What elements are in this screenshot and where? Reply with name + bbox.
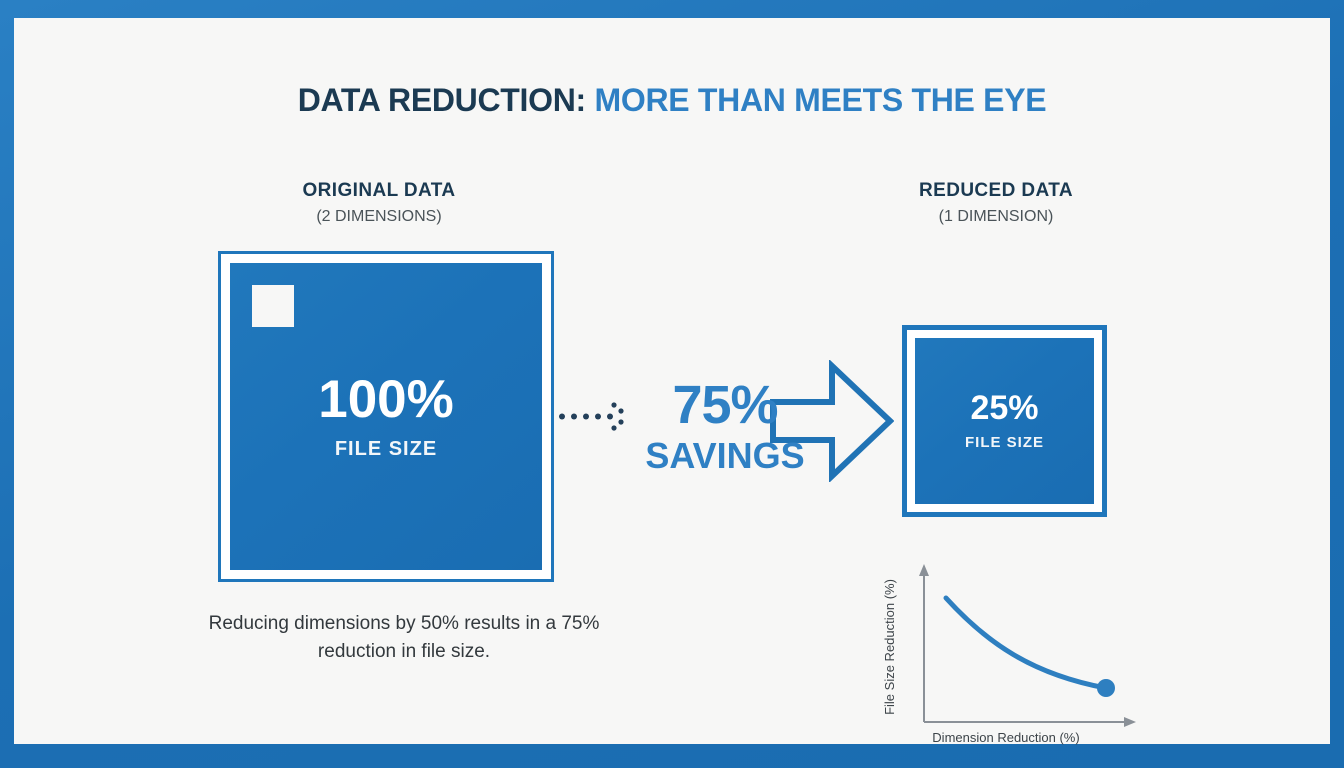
reduced-data-heading: REDUCED DATA: [846, 180, 1146, 202]
caption-text: Reducing dimensions by 50% results in a …: [174, 610, 634, 665]
chart-y-axis-label: File Size Reduction (%): [882, 579, 897, 715]
original-file-size-label: FILE SIZE: [335, 438, 437, 461]
reduced-data-heading-group: REDUCED DATA (1 DIMENSION): [846, 180, 1146, 226]
savings-label: SAVINGS: [610, 438, 840, 474]
reduced-file-size-label: FILE SIZE: [965, 434, 1044, 451]
chart-y-axis-arrowhead: [919, 564, 929, 576]
chart-endpoint-marker: [1097, 679, 1115, 697]
reduced-file-size-percent: 25%: [970, 391, 1038, 425]
reduced-data-square-fill: 25% FILE SIZE: [915, 338, 1094, 504]
original-data-square: 100% FILE SIZE: [218, 251, 554, 582]
dimension-notch-square: [252, 285, 294, 327]
page-title: DATA REDUCTION: MORE THAN MEETS THE EYE: [14, 82, 1330, 119]
original-data-subheading: (2 DIMENSIONS): [229, 208, 529, 226]
chart-x-axis-label: Dimension Reduction (%): [932, 730, 1079, 745]
chart-x-axis-arrowhead: [1124, 717, 1136, 727]
savings-percent: 75%: [610, 378, 840, 432]
savings-callout: 75% SAVINGS: [610, 378, 840, 474]
title-dark-part: DATA REDUCTION:: [298, 82, 586, 118]
page-border: DATA REDUCTION: MORE THAN MEETS THE EYE …: [0, 0, 1344, 768]
infographic-canvas: DATA REDUCTION: MORE THAN MEETS THE EYE …: [14, 18, 1330, 744]
original-data-square-fill: 100% FILE SIZE: [230, 263, 542, 570]
title-accent-part: MORE THAN MEETS THE EYE: [595, 82, 1047, 118]
reduced-data-subheading: (1 DIMENSION): [846, 208, 1146, 226]
reduced-data-square: 25% FILE SIZE: [902, 325, 1107, 517]
original-file-size-percent: 100%: [318, 373, 454, 426]
chart-decay-curve: [946, 598, 1106, 688]
original-data-heading: ORIGINAL DATA: [229, 180, 529, 202]
original-data-heading-group: ORIGINAL DATA (2 DIMENSIONS): [229, 180, 529, 226]
file-size-reduction-chart: Dimension Reduction (%) File Size Reduct…: [866, 550, 1146, 746]
